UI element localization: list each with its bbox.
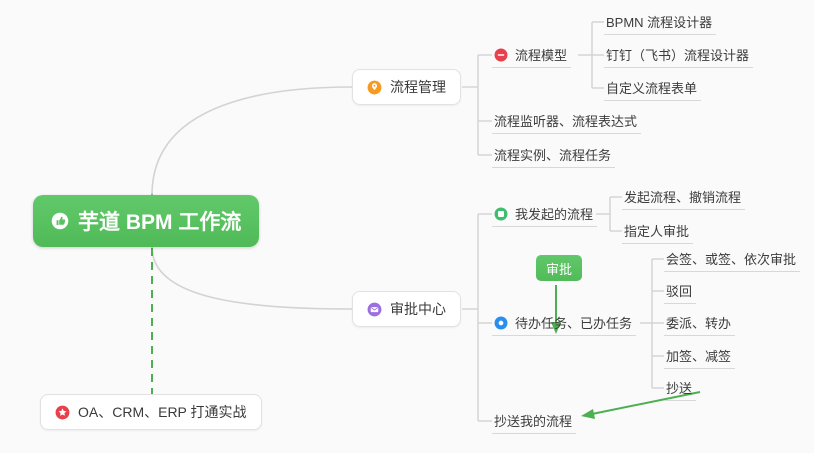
leaf-start-cancel-process[interactable]: 发起流程、撤销流程	[622, 184, 745, 210]
thumbs-up-icon	[51, 212, 69, 230]
node-todo-done-tasks[interactable]: 待办任务、已办任务	[492, 310, 636, 336]
node-process-model[interactable]: 流程模型	[492, 42, 571, 68]
callout-label: OA、CRM、ERP 打通实战	[78, 402, 247, 422]
leaf-delegate-transfer[interactable]: 委派、转办	[664, 310, 735, 336]
node-my-started-process[interactable]: 我发起的流程	[492, 201, 597, 227]
callout-label: 审批	[546, 259, 572, 278]
leaf-dingtalk-designer[interactable]: 钉钉（飞书）流程设计器	[604, 42, 753, 68]
leaf-assign-approver[interactable]: 指定人审批	[622, 218, 693, 244]
node-cc-to-me[interactable]: 抄送我的流程	[492, 408, 576, 434]
node-label: 委派、转办	[666, 313, 731, 332]
callout-note-integration[interactable]: OA、CRM、ERP 打通实战	[40, 394, 262, 430]
node-instance-task[interactable]: 流程实例、流程任务	[492, 142, 615, 168]
node-label: 驳回	[666, 281, 692, 300]
leaf-cc[interactable]: 抄送	[664, 375, 696, 401]
callout-tag-approval[interactable]: 审批	[536, 255, 582, 281]
root-label: 芋道 BPM 工作流	[78, 206, 241, 236]
leaf-custom-form[interactable]: 自定义流程表单	[604, 75, 701, 101]
location-pin-icon	[367, 80, 382, 95]
leaf-bpmn-designer[interactable]: BPMN 流程设计器	[604, 9, 716, 35]
node-label: 钉钉（飞书）流程设计器	[606, 45, 749, 64]
node-label: 加签、减签	[666, 346, 731, 365]
node-label: 抄送	[666, 378, 692, 397]
node-label: BPMN 流程设计器	[606, 12, 712, 31]
node-label: 流程监听器、流程表达式	[494, 111, 637, 130]
branch-node-approval-center[interactable]: 审批中心	[352, 291, 461, 327]
dot-circle-icon	[494, 316, 508, 330]
star-circle-icon	[55, 405, 70, 420]
node-label: 指定人审批	[624, 221, 689, 240]
branch-label: 审批中心	[390, 299, 446, 319]
branch-node-process-management[interactable]: 流程管理	[352, 69, 461, 105]
leaf-add-remove-sign[interactable]: 加签、减签	[664, 343, 735, 369]
leaf-countersign[interactable]: 会签、或签、依次审批	[664, 246, 800, 272]
root-node[interactable]: 芋道 BPM 工作流	[33, 195, 259, 247]
node-label: 会签、或签、依次审批	[666, 249, 796, 268]
node-listener-expression[interactable]: 流程监听器、流程表达式	[492, 108, 641, 134]
node-label: 流程模型	[515, 45, 567, 64]
node-label: 待办任务、已办任务	[515, 313, 632, 332]
branch-label: 流程管理	[390, 77, 446, 97]
node-label: 我发起的流程	[515, 204, 593, 223]
node-label: 自定义流程表单	[606, 78, 697, 97]
leaf-reject[interactable]: 驳回	[664, 278, 696, 304]
node-label: 抄送我的流程	[494, 411, 572, 430]
mail-icon	[367, 302, 382, 317]
node-label: 发起流程、撤销流程	[624, 187, 741, 206]
node-label: 流程实例、流程任务	[494, 145, 611, 164]
minus-circle-icon	[494, 48, 508, 62]
mindmap-canvas: 芋道 BPM 工作流 流程管理 流程模型 BPMN 流程设计器 钉钉（飞书）流程…	[0, 0, 814, 453]
square-circle-icon	[494, 207, 508, 221]
